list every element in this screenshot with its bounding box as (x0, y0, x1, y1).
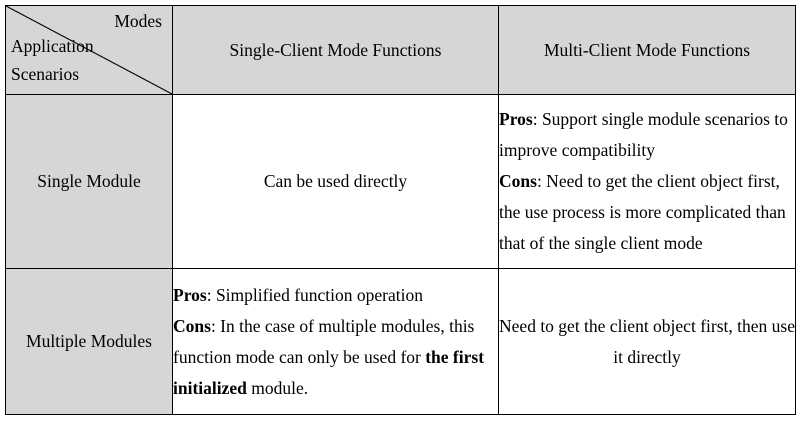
table-row: Single Module Can be used directly Pros:… (6, 95, 796, 269)
cell-single-module-multi-client: Pros: Support single module scenarios to… (499, 95, 796, 269)
column-header-multi-client: Multi-Client Mode Functions (499, 6, 796, 95)
cons-label: Cons (173, 316, 211, 336)
corner-scenarios-label: Application Scenarios (11, 32, 94, 88)
table-row: Multiple Modules Pros: Simplified functi… (6, 269, 796, 415)
table-header-row: Modes Application Scenarios Single-Clien… (6, 6, 796, 95)
pros-text: : Support single module scenarios to imp… (499, 109, 788, 160)
comparison-table: Modes Application Scenarios Single-Clien… (5, 5, 796, 415)
pros-text: : Simplified function operation (207, 285, 423, 305)
cons-paragraph: Cons: Need to get the client object firs… (499, 166, 795, 259)
cell-multiple-modules-single-client: Pros: Simplified function operation Cons… (173, 269, 499, 415)
cons-label: Cons (499, 171, 537, 191)
cell-single-module-single-client: Can be used directly (173, 95, 499, 269)
cons-text: : Need to get the client object first, t… (499, 171, 786, 253)
cons-text-part-2: module. (247, 378, 308, 398)
row-header-single-module: Single Module (6, 95, 173, 269)
corner-scenarios-line-2: Scenarios (11, 60, 94, 88)
pros-paragraph: Pros: Support single module scenarios to… (499, 104, 795, 166)
row-header-multiple-modules: Multiple Modules (6, 269, 173, 415)
pros-label: Pros (499, 109, 533, 129)
corner-axis-cell: Modes Application Scenarios (6, 6, 173, 95)
pros-label: Pros (173, 285, 207, 305)
table-figure: Modes Application Scenarios Single-Clien… (0, 0, 809, 422)
cons-paragraph: Cons: In the case of multiple modules, t… (173, 311, 498, 404)
column-header-single-client: Single-Client Mode Functions (173, 6, 499, 95)
corner-modes-label: Modes (114, 8, 162, 34)
corner-scenarios-line-1: Application (11, 32, 94, 60)
cell-multiple-modules-multi-client: Need to get the client object first, the… (499, 269, 796, 415)
pros-paragraph: Pros: Simplified function operation (173, 280, 498, 311)
